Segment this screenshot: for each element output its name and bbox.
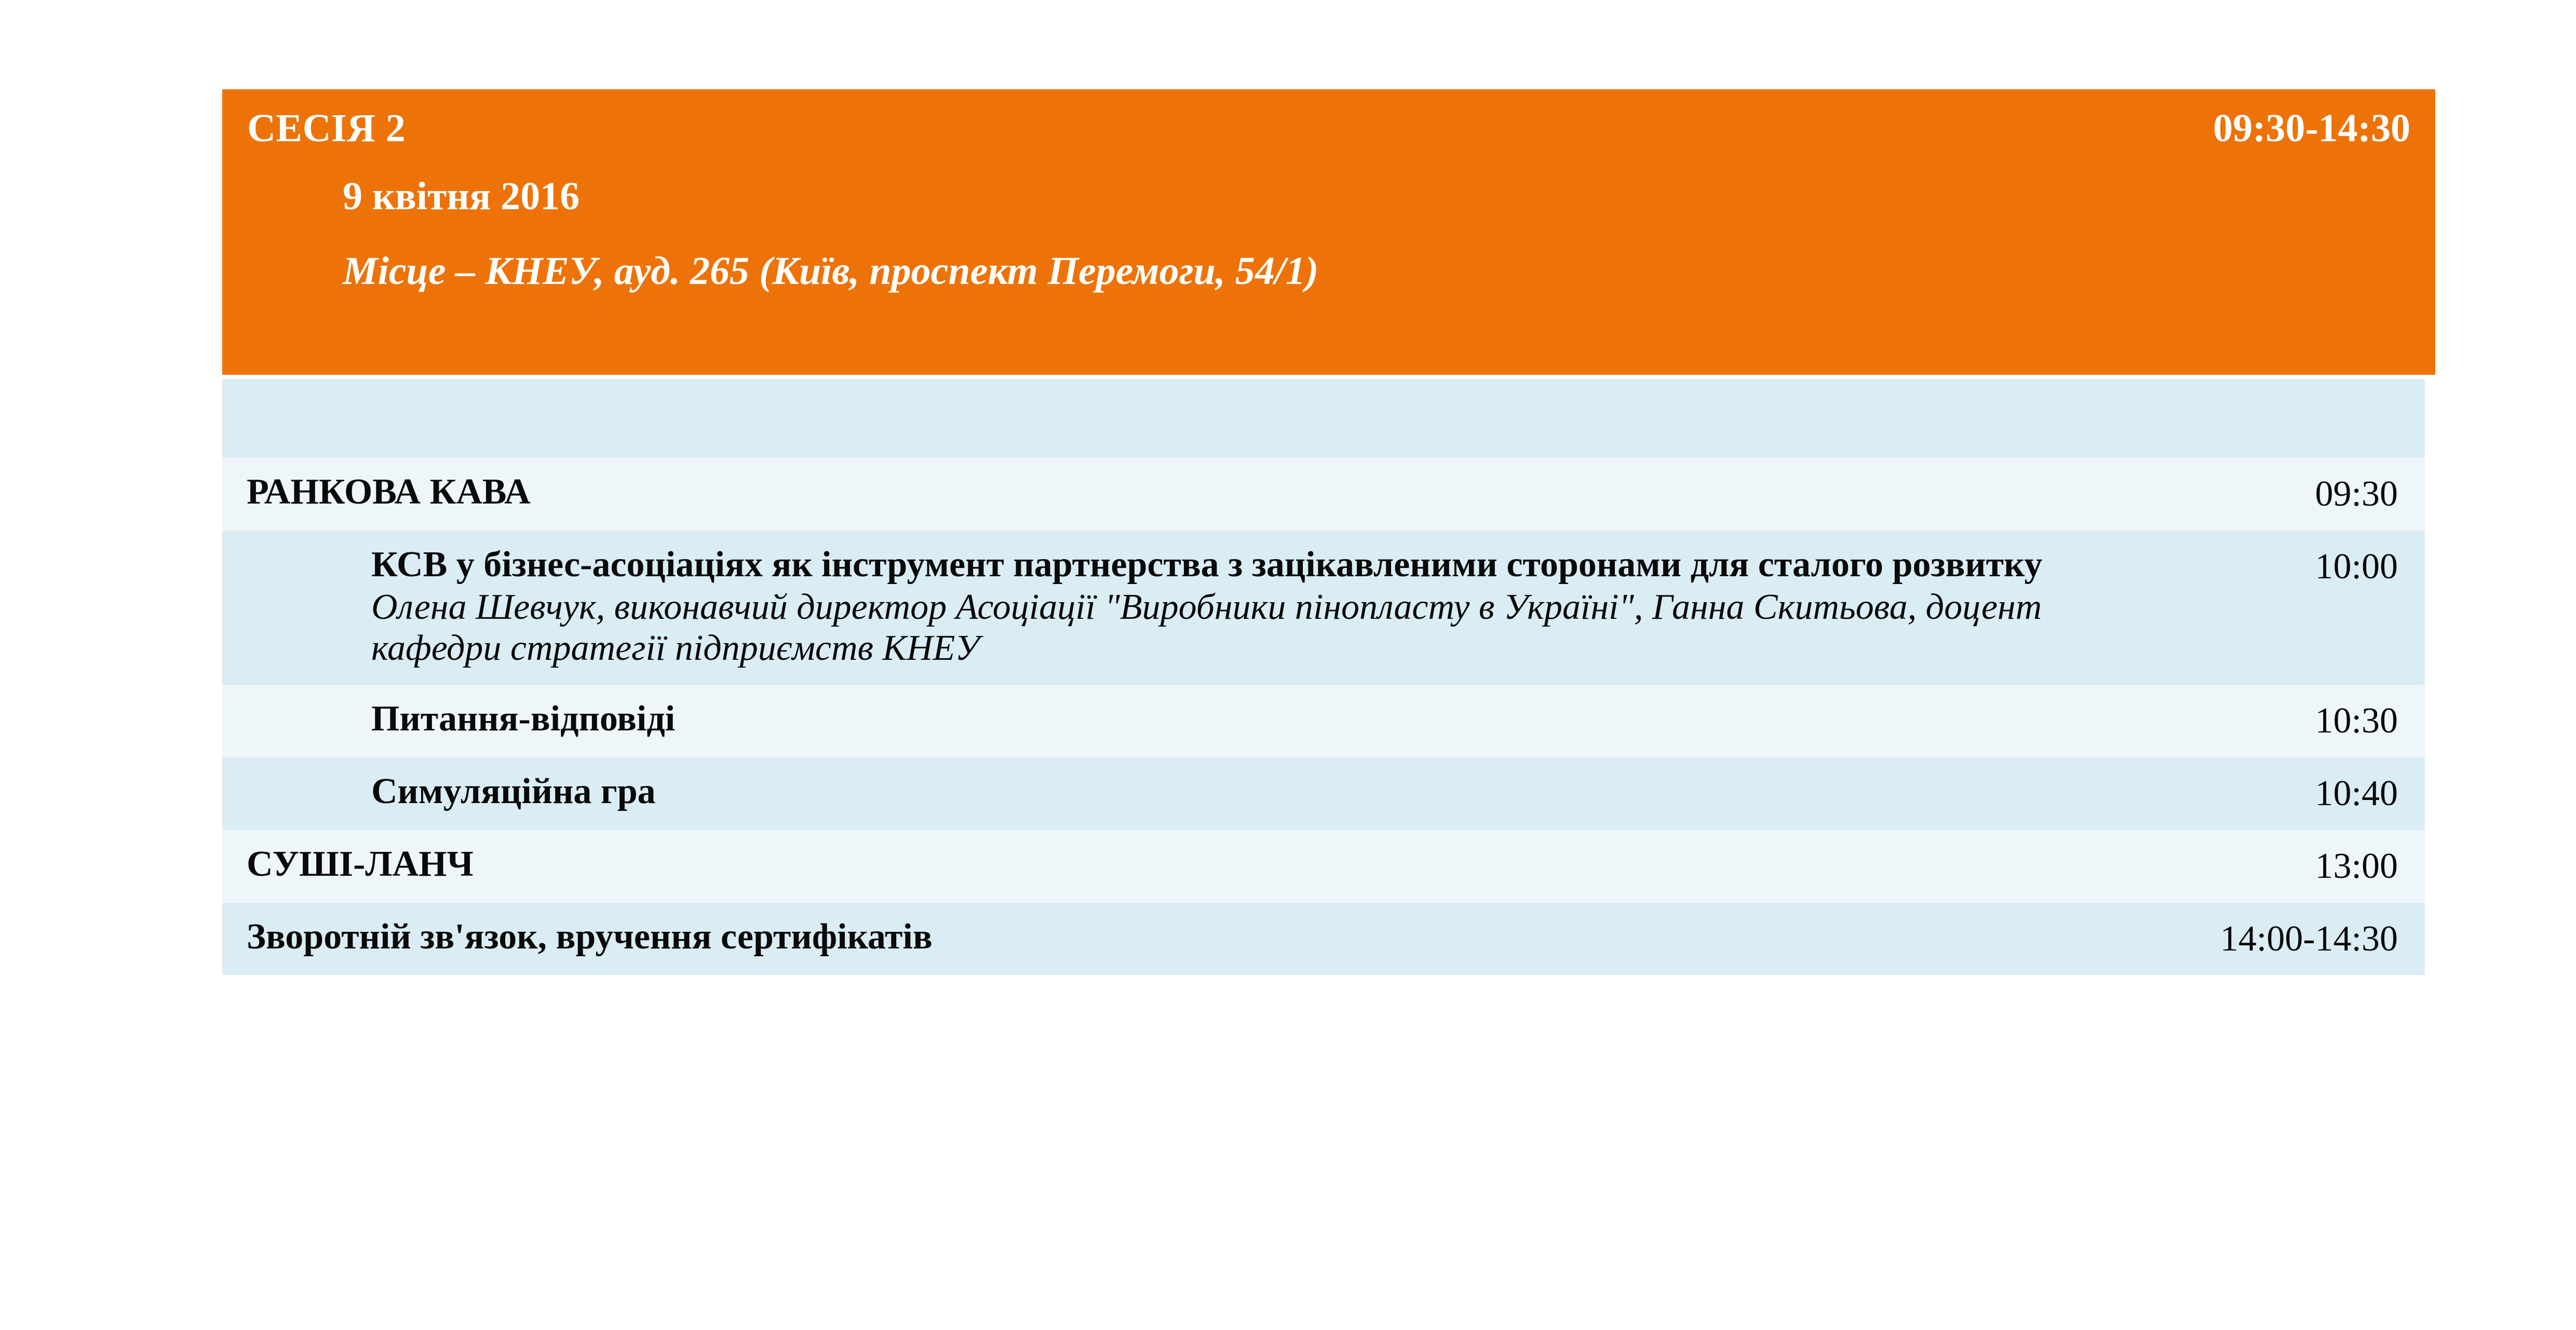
session-label: СЕСІЯ 2: [247, 108, 406, 148]
agenda-row: Симуляційна гра10:40: [222, 757, 2425, 830]
agenda-row-title: РАНКОВА КАВА: [247, 471, 2051, 513]
agenda-row-time: 10:00: [2061, 531, 2425, 685]
agenda-row-title: Зворотній зв'язок, вручення сертифікатів: [247, 916, 2051, 958]
agenda-table-body: РАНКОВА КАВА09:30КСВ у бізнес-асоціаціях…: [222, 379, 2425, 975]
agenda-row-time: 09:30: [2061, 458, 2425, 531]
agenda-page: СЕСІЯ 2 09:30-14:30 9 квітня 2016 Місце …: [0, 0, 2576, 1330]
agenda-row-time: 13:00: [2061, 830, 2425, 903]
agenda-row-title: СУШІ-ЛАНЧ: [247, 844, 2051, 885]
session-date: 9 квітня 2016: [343, 177, 579, 216]
session-header-top-row: СЕСІЯ 2 09:30-14:30: [222, 89, 2435, 167]
agenda-row-topic: Питання-відповіді: [222, 685, 2061, 757]
agenda-row-time: 14:00-14:30: [2061, 903, 2425, 975]
agenda-row-topic: РАНКОВА КАВА: [222, 458, 2061, 531]
agenda-row-topic: СУШІ-ЛАНЧ: [222, 830, 2061, 903]
agenda-row-topic: Симуляційна гра: [222, 757, 2061, 830]
agenda-row-topic: Зворотній зв'язок, вручення сертифікатів: [222, 903, 2061, 975]
agenda-row-title: Симуляційна гра: [371, 771, 2051, 812]
agenda-row-speakers: Олена Шевчук, виконавчий директор Асоціа…: [371, 587, 2051, 670]
agenda-row: Питання-відповіді10:30: [222, 685, 2425, 757]
agenda-row: КСВ у бізнес-асоціаціях як інструмент па…: [222, 531, 2425, 685]
agenda-spacer-row: [222, 379, 2425, 458]
agenda-row-title: КСВ у бізнес-асоціаціях як інструмент па…: [371, 544, 2051, 586]
agenda-row-time: 10:40: [2061, 757, 2425, 830]
agenda-row-topic: КСВ у бізнес-асоціаціях як інструмент па…: [222, 531, 2061, 685]
agenda-row: СУШІ-ЛАНЧ13:00: [222, 830, 2425, 903]
agenda-row: Зворотній зв'язок, вручення сертифікатів…: [222, 903, 2425, 975]
agenda-spacer-cell-topic: [222, 379, 2061, 458]
agenda-spacer-cell-time: [2061, 379, 2425, 458]
agenda-row: РАНКОВА КАВА09:30: [222, 458, 2425, 531]
session-place: Місце – КНЕУ, ауд. 265 (Київ, проспект П…: [343, 251, 1318, 291]
agenda-row-time: 10:30: [2061, 685, 2425, 757]
session-time-range: 09:30-14:30: [2213, 108, 2410, 148]
agenda-row-title: Питання-відповіді: [371, 698, 2051, 740]
session-header-banner: СЕСІЯ 2 09:30-14:30 9 квітня 2016 Місце …: [222, 89, 2435, 375]
agenda-table: РАНКОВА КАВА09:30КСВ у бізнес-асоціаціях…: [222, 379, 2425, 975]
